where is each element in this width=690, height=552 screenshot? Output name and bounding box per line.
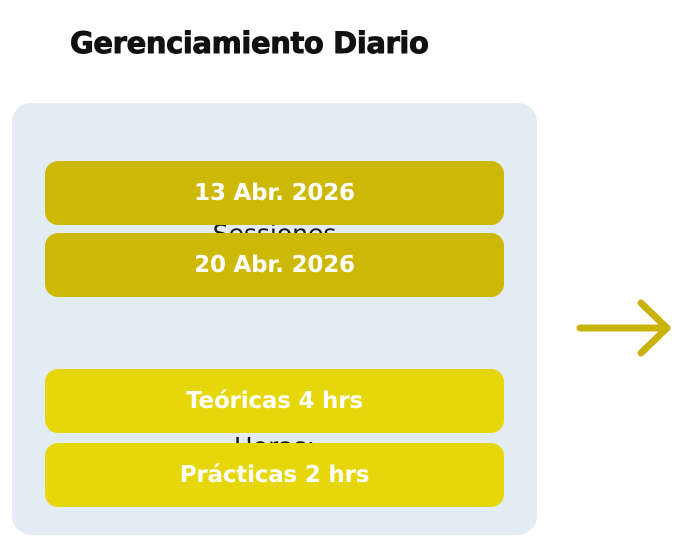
session-pill-1-label: 13 Abr. 2026 xyxy=(194,180,355,206)
slide-canvas: Gerenciamiento Diario Sessiones 13 Abr. … xyxy=(0,0,690,552)
hours-pill-practical-label: Prácticas 2 hrs xyxy=(180,462,370,488)
hours-pill-theoretical-label: Teóricas 4 hrs xyxy=(186,388,363,414)
arrow-right-glyph xyxy=(575,297,675,359)
schedule-card: Sessiones 13 Abr. 2026 20 Abr. 2026 Hora… xyxy=(12,103,537,535)
session-pill-2-label: 20 Abr. 2026 xyxy=(194,252,355,278)
session-pill-2[interactable]: 20 Abr. 2026 xyxy=(45,233,504,297)
page-title: Gerenciamiento Diario xyxy=(70,26,429,60)
arrow-right-icon xyxy=(575,297,675,359)
hours-pill-practical[interactable]: Prácticas 2 hrs xyxy=(45,443,504,507)
hours-pill-theoretical[interactable]: Teóricas 4 hrs xyxy=(45,369,504,433)
session-pill-1[interactable]: 13 Abr. 2026 xyxy=(45,161,504,225)
